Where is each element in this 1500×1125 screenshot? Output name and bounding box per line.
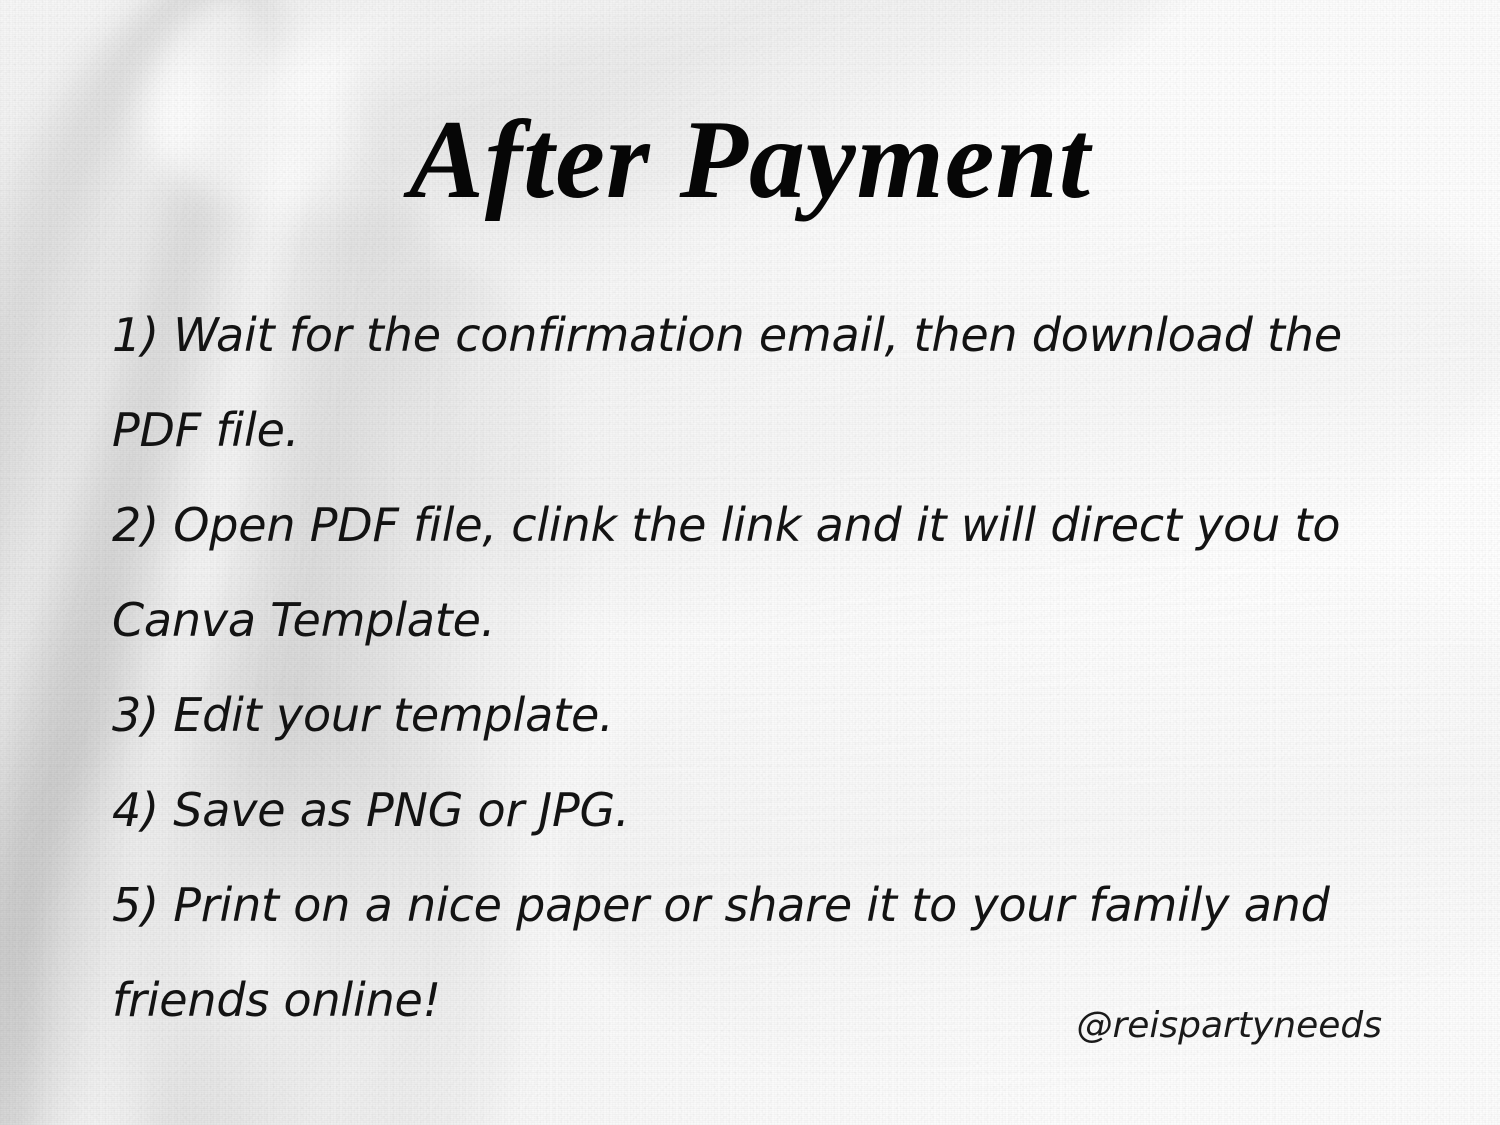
instruction-line: 2) Open PDF file, clink the link and it … <box>112 478 1432 573</box>
instruction-line: 4) Save as PNG or JPG. <box>112 763 1432 858</box>
slide-canvas: After Payment 1) Wait for the confirmati… <box>0 0 1500 1125</box>
instruction-line: 3) Edit your template. <box>112 668 1432 763</box>
page-title: After Payment <box>0 104 1500 216</box>
instruction-line: PDF file. <box>112 383 1432 478</box>
watermark-handle: @reispartyneeds <box>1076 1004 1382 1047</box>
instruction-line: 1) Wait for the confirmation email, then… <box>112 288 1432 383</box>
instruction-line: Canva Template. <box>112 573 1432 668</box>
instruction-list: 1) Wait for the confirmation email, then… <box>112 288 1432 1048</box>
instruction-line: 5) Print on a nice paper or share it to … <box>112 858 1432 953</box>
slide-content: After Payment 1) Wait for the confirmati… <box>0 0 1500 1125</box>
